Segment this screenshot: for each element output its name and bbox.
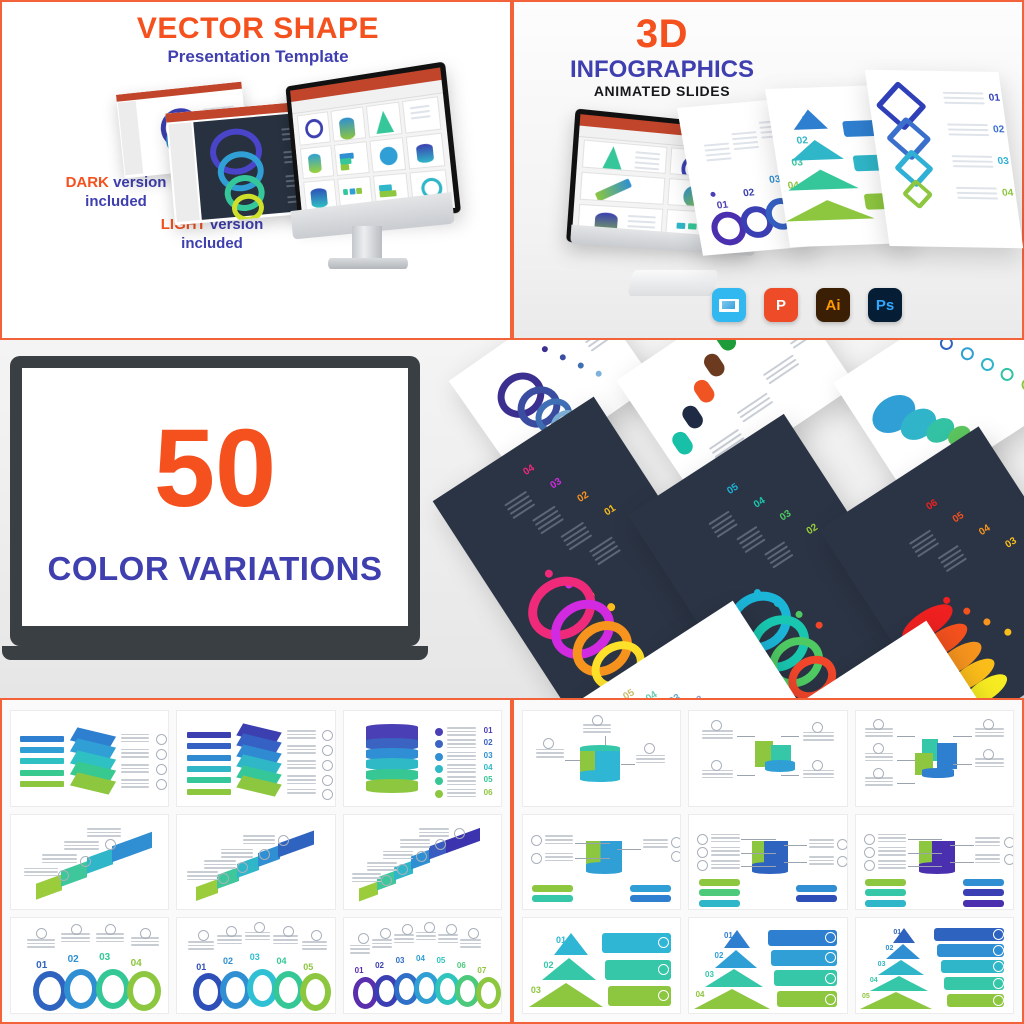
doc-icon xyxy=(1004,837,1014,848)
slide-grid-right: 01 02 03 01 02 03 04 xyxy=(522,710,1014,1014)
gear-icon xyxy=(864,847,875,858)
variation-count: 50 xyxy=(22,414,408,524)
mobile-icon xyxy=(226,926,237,937)
dark-included-word: included xyxy=(85,193,147,210)
photoshop-icon[interactable]: Ps xyxy=(868,288,902,322)
mobile-icon xyxy=(993,961,1004,972)
slide-thumb[interactable] xyxy=(580,172,665,205)
pyramid-number: 04 xyxy=(870,977,878,984)
target-icon xyxy=(322,789,333,800)
refresh-icon xyxy=(402,924,413,935)
refresh-icon xyxy=(416,851,427,862)
gear-icon xyxy=(697,847,708,858)
supported-apps-row: P Ai Ps xyxy=(712,288,902,322)
lightbulb-icon xyxy=(543,738,554,749)
keynote-icon[interactable] xyxy=(712,288,746,322)
legend-bar xyxy=(796,885,837,892)
mobile-icon xyxy=(380,928,391,939)
illustrator-icon[interactable]: Ai xyxy=(816,288,850,322)
person-icon xyxy=(322,775,333,786)
slide-number: 02 xyxy=(742,187,755,199)
person-icon xyxy=(983,719,994,730)
page-title: VECTOR SHAPE xyxy=(2,14,512,44)
imac-stand-neck xyxy=(352,226,382,262)
grid-slide-pyramid-4[interactable]: 01 02 03 04 xyxy=(688,917,847,1014)
legend-bar xyxy=(963,889,1004,896)
step-dot xyxy=(435,753,443,761)
step-number: 01 xyxy=(196,962,206,972)
illustrator-glyph: Ai xyxy=(826,297,841,314)
grid-slide-layered-cake-6[interactable] xyxy=(176,710,335,807)
lightbulb-icon xyxy=(358,933,369,944)
grid-slide-rings-5[interactable]: 01 02 03 04 05 xyxy=(176,917,335,1014)
step-dot xyxy=(710,192,716,197)
pyramid-number: 02 xyxy=(715,951,724,960)
pyramid-number: 03 xyxy=(705,970,714,979)
trophy-icon xyxy=(983,749,994,760)
legend-bar xyxy=(699,879,740,886)
award-icon xyxy=(468,928,479,939)
refresh-icon xyxy=(259,849,270,860)
pyramid-number: 03 xyxy=(531,985,541,995)
slide-thumb[interactable] xyxy=(582,139,667,174)
legend-bar xyxy=(532,885,573,892)
pyramid-number: 02 xyxy=(886,945,894,952)
slide-thumb[interactable] xyxy=(297,111,331,145)
slide-thumb-rail xyxy=(118,101,143,176)
powerpoint-icon[interactable]: P xyxy=(764,288,798,322)
thumb-cylinder-icon xyxy=(339,116,356,139)
step-number: 02 xyxy=(223,956,233,966)
floating-slide-diamonds: 01 02 03 04 xyxy=(865,70,1023,249)
target-icon xyxy=(671,837,681,848)
trophy-icon xyxy=(424,922,435,933)
grid-slide-pie-legend-5[interactable] xyxy=(688,814,847,911)
step-dot xyxy=(435,728,443,736)
legend-bar xyxy=(963,900,1004,907)
legend-bar xyxy=(865,900,906,907)
gear-icon xyxy=(322,745,333,756)
lightbulb-icon xyxy=(864,834,875,845)
trophy-icon xyxy=(825,994,836,1005)
imac-monitor xyxy=(278,74,458,284)
step-dot xyxy=(435,740,443,748)
lightbulb-icon xyxy=(993,929,1004,940)
product-preview-canvas: VECTOR SHAPE Presentation Template DARK … xyxy=(0,0,1024,1024)
gear-icon xyxy=(156,749,167,760)
target-icon xyxy=(864,860,875,871)
slide-grid-left: 01 02 03 04 05 06 xyxy=(10,710,502,1014)
step-number: 04 xyxy=(276,956,286,966)
legend-bar xyxy=(796,895,837,902)
trophy-icon xyxy=(644,743,655,754)
grid-slide-pyramid-5[interactable]: 01 02 03 04 05 xyxy=(855,917,1014,1014)
pyramid-number: 01 xyxy=(724,931,733,940)
grid-slide-rings-4[interactable]: 01 02 03 04 xyxy=(10,917,169,1014)
legend-bar xyxy=(532,895,573,902)
step-number: 04 xyxy=(484,763,493,772)
panel2-subtitle: INFOGRAPHICS xyxy=(512,58,812,82)
panel2-title: 3D xyxy=(512,14,812,54)
lightbulb-icon xyxy=(531,835,542,846)
doc-icon xyxy=(446,924,457,935)
pyramid-tier xyxy=(788,139,843,161)
step-number: 06 xyxy=(484,788,493,797)
trophy-icon xyxy=(283,926,294,937)
pyramid-tier xyxy=(791,109,828,130)
panel-slide-grid-left: 01 02 03 04 05 06 xyxy=(0,698,512,1024)
step-dot xyxy=(435,790,443,798)
slide-number: 01 xyxy=(716,200,729,212)
step-number: 02 xyxy=(484,738,493,747)
gear-icon xyxy=(531,853,542,864)
lightbulb-icon xyxy=(36,928,47,939)
grid-slide-pie-cylinder-3[interactable] xyxy=(522,710,681,807)
pyramid-number: 02 xyxy=(543,960,553,970)
grid-slide-pie-cylinder-5-flow[interactable] xyxy=(855,710,1014,807)
step-number: 03 xyxy=(484,751,493,760)
thumb-cylinder-icon xyxy=(308,153,322,173)
laptop-base xyxy=(2,646,428,660)
lightbulb-icon xyxy=(322,730,333,741)
grid-slide-pie-cylinder-4-flow[interactable] xyxy=(688,710,847,807)
lightbulb-icon xyxy=(156,734,167,745)
trophy-icon xyxy=(671,851,681,862)
trophy-icon xyxy=(322,760,333,771)
diamond-graphic xyxy=(902,179,933,210)
slide-thumb[interactable] xyxy=(402,96,441,133)
panel-color-variations: 50 COLOR VARIATIONS xyxy=(0,340,1024,698)
light-included-word: included xyxy=(181,235,243,252)
mobile-icon xyxy=(71,924,82,935)
legend-bar xyxy=(963,879,1004,886)
step-number: 05 xyxy=(303,962,313,972)
step-dot xyxy=(435,765,443,773)
legend-bar xyxy=(865,879,906,886)
grid-slide-pyramid-3[interactable]: 01 02 03 xyxy=(522,917,681,1014)
step-number: 01 xyxy=(355,966,364,975)
thumb-ring-icon xyxy=(304,118,324,139)
slide-thumb[interactable] xyxy=(369,137,407,173)
keynote-glyph xyxy=(719,299,739,312)
slide-thumb[interactable] xyxy=(365,101,402,137)
imac-stand-foot xyxy=(328,258,408,269)
gear-icon xyxy=(873,719,884,730)
step-dot xyxy=(435,777,443,785)
slide-thumb[interactable] xyxy=(330,106,366,141)
pyramid-number: 01 xyxy=(893,929,901,936)
target-icon xyxy=(697,860,708,871)
lightbulb-icon xyxy=(697,834,708,845)
monitor-stand xyxy=(627,270,719,296)
grid-slide-stairs-6[interactable] xyxy=(343,814,502,911)
legend-bar xyxy=(699,900,740,907)
grid-slide-pie-legend-4[interactable] xyxy=(522,814,681,911)
trophy-icon xyxy=(837,856,847,867)
pyramid-tier xyxy=(785,169,859,191)
step-number: 02 xyxy=(375,961,384,970)
legend-bar xyxy=(699,889,740,896)
variation-caption: COLOR VARIATIONS xyxy=(22,550,408,588)
step-number: 01 xyxy=(484,726,493,735)
grid-slide-stairs-4[interactable] xyxy=(10,814,169,911)
step-number: 03 xyxy=(396,956,405,965)
step-number: 04 xyxy=(416,954,425,963)
slide-thumb[interactable] xyxy=(300,145,334,179)
grid-slide-cylinder-stack-6[interactable]: 01 02 03 04 05 06 xyxy=(343,710,502,807)
slide-thumb[interactable] xyxy=(334,141,370,176)
trophy-icon xyxy=(993,995,1004,1006)
step-number: 06 xyxy=(457,961,466,970)
trophy-icon xyxy=(1004,854,1014,865)
grid-slide-pie-legend-6[interactable] xyxy=(855,814,1014,911)
step-number: 03 xyxy=(99,952,110,963)
lightbulb-icon xyxy=(58,870,69,881)
award-icon xyxy=(454,828,465,839)
gear-icon xyxy=(592,715,603,726)
powerpoint-glyph: P xyxy=(776,297,786,314)
laptop-screen: 50 COLOR VARIATIONS xyxy=(22,368,408,626)
step-number: 07 xyxy=(477,966,486,975)
legend-bar xyxy=(865,889,906,896)
pyramid-number: 01 xyxy=(556,935,566,945)
step-number: 03 xyxy=(250,952,260,962)
step-number: 05 xyxy=(436,956,445,965)
doc-icon xyxy=(837,839,847,850)
brain-icon xyxy=(993,945,1004,956)
photoshop-glyph: Ps xyxy=(876,297,894,314)
grid-slide-stairs-5[interactable] xyxy=(176,814,335,911)
pyramid-tier xyxy=(783,198,875,221)
panel-slide-grid-right: 01 02 03 01 02 03 04 xyxy=(512,698,1024,1024)
pyramid-number: 05 xyxy=(862,993,870,1000)
pyramid-number: 04 xyxy=(696,990,705,999)
thumb-pyramid-icon xyxy=(375,110,395,134)
panel-vector-shape: VECTOR SHAPE Presentation Template DARK … xyxy=(0,0,512,340)
brain-icon xyxy=(825,952,836,963)
grid-slide-rings-7[interactable]: 01 02 03 04 05 06 07 xyxy=(343,917,502,1014)
lightbulb-icon xyxy=(873,768,884,779)
step-number: 04 xyxy=(131,958,142,969)
mobile-icon xyxy=(397,864,408,875)
slide-thumb[interactable] xyxy=(406,132,446,169)
doc-icon xyxy=(140,928,151,939)
target-icon xyxy=(156,779,167,790)
refresh-icon xyxy=(993,978,1004,989)
dark-label: DARK xyxy=(66,174,109,191)
step-number: 01 xyxy=(36,960,47,971)
lightbulb-icon xyxy=(198,930,209,941)
pyramid-number: 03 xyxy=(878,961,886,968)
lightbulb-icon xyxy=(825,932,836,943)
grid-slide-layered-cake-5[interactable] xyxy=(10,710,169,807)
step-number: 05 xyxy=(484,775,493,784)
doc-icon xyxy=(311,930,322,941)
thumb-donut-icon xyxy=(379,146,399,166)
legend-bar xyxy=(630,895,671,902)
laptop-device: 50 COLOR VARIATIONS xyxy=(10,356,420,666)
brain-icon xyxy=(658,964,669,975)
step-number: 02 xyxy=(68,954,79,965)
mobile-icon xyxy=(825,973,836,984)
laptop-body: 50 COLOR VARIATIONS xyxy=(10,356,420,646)
legend-bar xyxy=(630,885,671,892)
trophy-icon xyxy=(156,764,167,775)
